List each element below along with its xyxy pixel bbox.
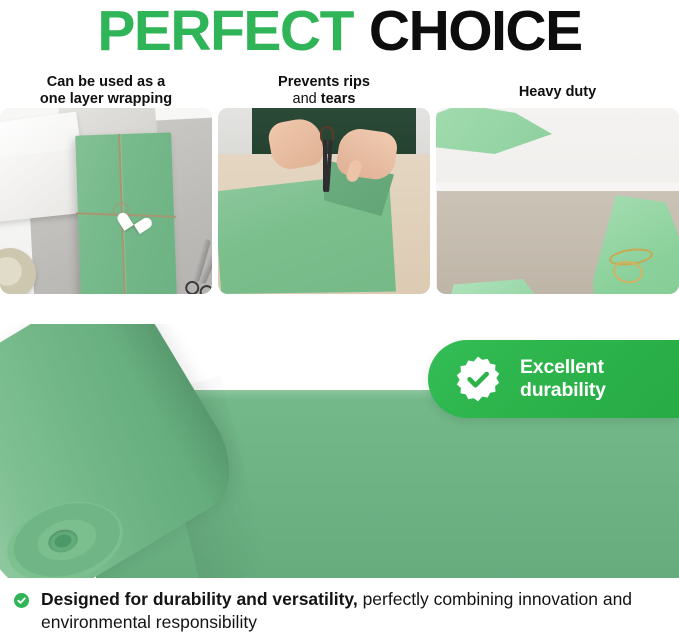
badge-label-line-1: Excellent	[520, 356, 606, 379]
page-title: PERFECT CHOICE	[0, 0, 679, 62]
panel1-scissor-ring-2	[198, 283, 212, 294]
caption-line-2: and tears	[293, 91, 356, 108]
caption-prevents-rips: Prevents rips and tears	[218, 64, 430, 108]
panel2-right-hand	[335, 126, 399, 182]
caption-line-2-regular: and	[293, 91, 321, 107]
panel2-scissors	[318, 126, 336, 194]
panel-captions: Can be used as a one layer wrapping Prev…	[0, 64, 679, 108]
check-circle-icon	[14, 593, 29, 608]
caption-line-2-bold: tears	[321, 91, 356, 107]
caption-line-1: Prevents rips	[278, 74, 370, 91]
title-word-perfect: PERFECT	[97, 3, 353, 60]
caption-heavy-duty: Heavy duty	[436, 64, 679, 108]
photo-panel-prevents-rips	[218, 108, 430, 294]
footer-statement: Designed for durability and versatility,…	[0, 584, 679, 638]
check-badge-icon	[454, 355, 502, 403]
footer-text: Designed for durability and versatility,…	[41, 588, 663, 634]
caption-line-1: Can be used as a	[47, 74, 165, 91]
title-word-choice: CHOICE	[369, 3, 582, 60]
caption-line-2: one layer wrapping	[40, 91, 172, 108]
panel3-white-box	[436, 182, 679, 294]
excellent-durability-badge: Excellent durability	[428, 340, 679, 418]
footer-text-bold: Designed for durability and versatility,	[41, 589, 358, 609]
caption-one-layer-wrapping: Can be used as a one layer wrapping	[0, 64, 212, 108]
photo-panel-heavy-duty	[436, 108, 679, 294]
photo-panel-one-layer-wrapping	[0, 108, 212, 294]
caption-line-1: Heavy duty	[519, 84, 596, 101]
badge-label-line-2: durability	[520, 379, 606, 402]
badge-label: Excellent durability	[520, 356, 606, 402]
panel3-tissue-bundle-1	[443, 279, 551, 294]
panel1-heart-tag	[122, 206, 148, 232]
